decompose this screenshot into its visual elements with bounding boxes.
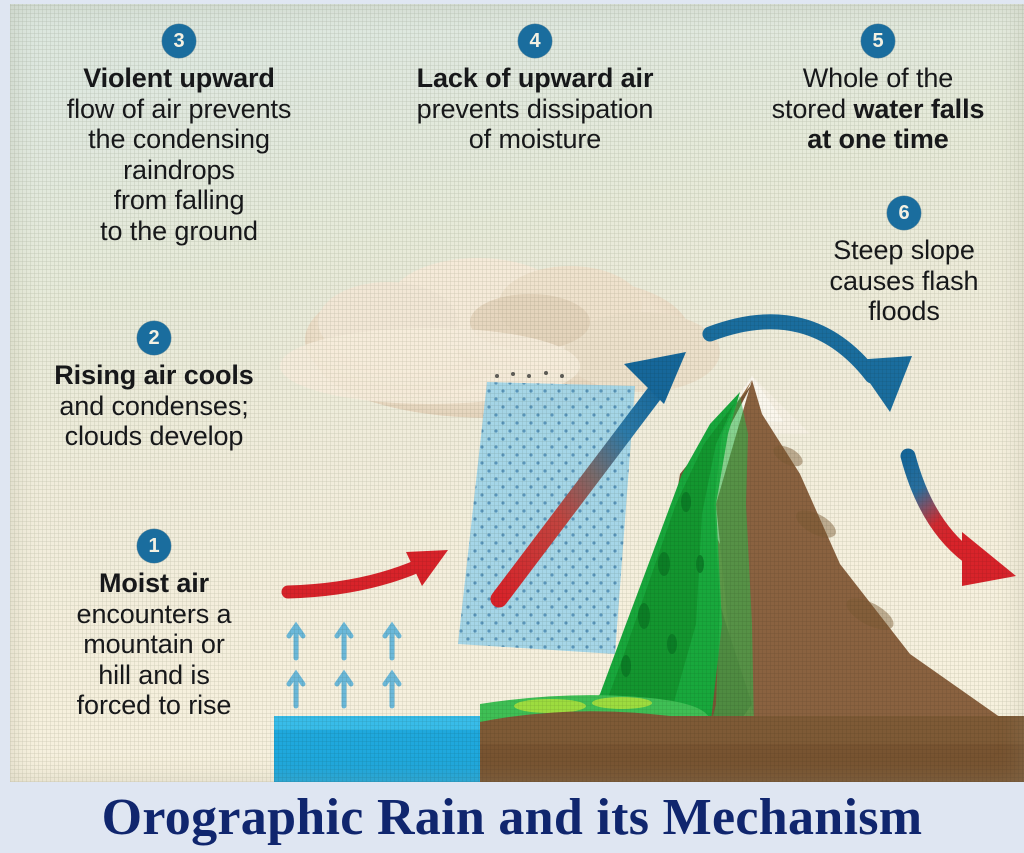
callout-2-line-1: Rising air cools (12, 360, 296, 391)
step-number-badge-2: 2 (137, 321, 171, 355)
callout-3-line-5: from falling (24, 185, 334, 216)
callout-4-line-3: of moisture (370, 124, 700, 155)
callout-5-line-2: stored water falls (728, 94, 1024, 125)
callout-3-line-4: raindrops (24, 155, 334, 186)
step-number-badge-6: 6 (887, 196, 921, 230)
callout-1-line-3: mountain or (16, 629, 292, 660)
figure-caption: Orographic Rain and its Mechanism (0, 788, 1024, 847)
callout-text-4: Lack of upward air prevents dissipation … (370, 63, 700, 155)
callout-6-line-3: floods (778, 296, 1024, 327)
callout-1-line-4: hill and is (16, 660, 292, 691)
evaporation-arrows (289, 626, 399, 706)
infographic-canvas: 1 Moist air encounters a mountain or hil… (10, 4, 1024, 782)
callout-steep-slope-flash-floods: 6 Steep slope causes flash floods (778, 196, 1024, 327)
callout-1-line-2: encounters a (16, 599, 292, 630)
callout-rising-air-cools: 2 Rising air cools and condenses; clouds… (12, 321, 296, 452)
callout-text-1: Moist air encounters a mountain or hill … (16, 568, 292, 721)
sea (274, 716, 480, 782)
ground (414, 711, 1024, 782)
callout-stored-water-falls: 5 Whole of the stored water falls at one… (728, 24, 1024, 155)
infographic-page: 1 Moist air encounters a mountain or hil… (0, 0, 1024, 853)
callout-4-line-2: prevents dissipation (370, 94, 700, 125)
callout-6-line-1: Steep slope (778, 235, 1024, 266)
descending-arrow (908, 456, 1016, 586)
callout-3-line-1: Violent upward (24, 63, 334, 94)
callout-5-line-2-plain: stored (772, 94, 854, 124)
callout-text-6: Steep slope causes flash floods (778, 235, 1024, 327)
callout-2-line-3: clouds develop (12, 421, 296, 452)
callout-moist-air: 1 Moist air encounters a mountain or hil… (16, 529, 292, 721)
callout-text-2: Rising air cools and condenses; clouds d… (12, 360, 296, 452)
callout-violent-upward-flow: 3 Violent upward flow of air prevents th… (24, 24, 334, 246)
step-number-badge-3: 3 (162, 24, 196, 58)
step-number-badge-5: 5 (861, 24, 895, 58)
callout-5-line-1: Whole of the (728, 63, 1024, 94)
step-number-badge-1: 1 (137, 529, 171, 563)
moist-air-arrow (288, 550, 448, 592)
callout-2-line-2: and condenses; (12, 391, 296, 422)
callout-1-line-1: Moist air (16, 568, 292, 599)
callout-3-line-3: the condensing (24, 124, 334, 155)
callout-5-line-2-bold: water falls (853, 94, 984, 124)
callout-lack-of-upward-air: 4 Lack of upward air prevents dissipatio… (370, 24, 700, 155)
rain-column (458, 371, 635, 654)
step-number-badge-4: 4 (518, 24, 552, 58)
callout-3-line-6: to the ground (24, 216, 334, 247)
callout-5-line-3: at one time (728, 124, 1024, 155)
callout-text-5: Whole of the stored water falls at one t… (728, 63, 1024, 155)
callout-1-line-5: forced to rise (16, 690, 292, 721)
callout-3-line-2: flow of air prevents (24, 94, 334, 125)
callout-4-line-1: Lack of upward air (370, 63, 700, 94)
callout-text-3: Violent upward flow of air prevents the … (24, 63, 334, 246)
callout-6-line-2: causes flash (778, 266, 1024, 297)
